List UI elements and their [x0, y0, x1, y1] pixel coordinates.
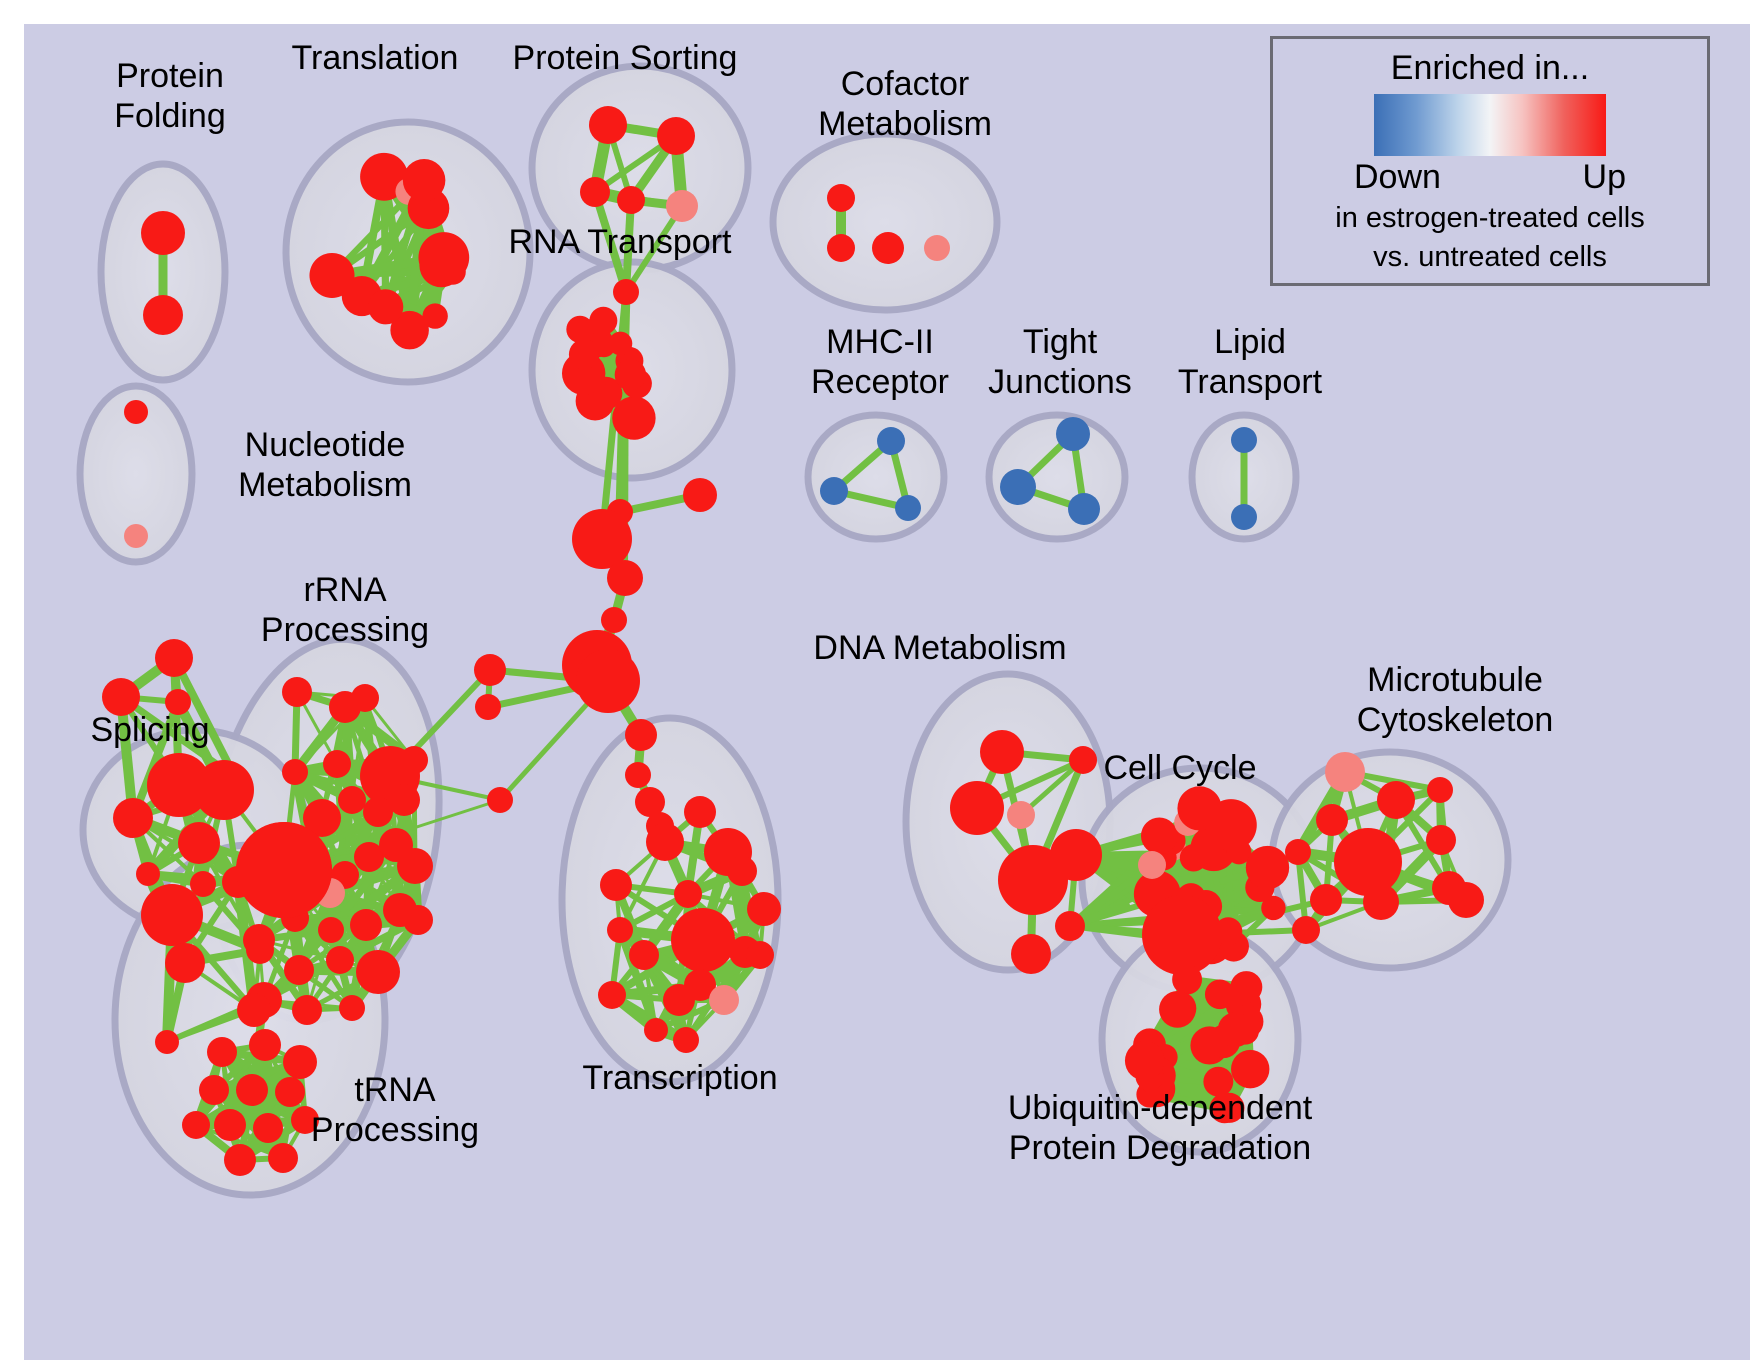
network-node [1056, 417, 1090, 451]
network-node [709, 985, 739, 1015]
network-node [1142, 895, 1222, 975]
network-node [1285, 839, 1311, 865]
network-node [178, 822, 220, 864]
cluster-label-cell-cycle: Cell Cycle [1060, 748, 1300, 788]
network-node [820, 477, 848, 505]
network-node [356, 950, 400, 994]
network-node [403, 905, 433, 935]
network-node [350, 909, 382, 941]
network-node [284, 955, 314, 985]
network-node [1172, 965, 1202, 995]
network-node [1141, 818, 1178, 855]
network-node [182, 1111, 210, 1139]
network-node [282, 677, 312, 707]
network-node [124, 400, 148, 424]
network-figure: Protein Folding Translation Protein Sort… [0, 0, 1750, 1360]
network-node [165, 943, 205, 983]
network-node [237, 993, 271, 1027]
legend-label-up: Up [1583, 158, 1626, 197]
legend-box: Enriched in... Down Up in estrogen-treat… [1270, 36, 1710, 286]
network-node [666, 190, 698, 222]
legend-color-gradient-bar [1374, 94, 1606, 156]
network-node [143, 295, 183, 335]
network-node [1377, 781, 1415, 819]
network-node [727, 856, 757, 886]
network-node [746, 941, 774, 969]
network-node [155, 639, 193, 677]
network-node [368, 289, 403, 324]
network-node [1159, 991, 1196, 1028]
network-node [1230, 971, 1262, 1003]
network-node [625, 719, 657, 751]
legend-sub-line1: in estrogen-treated cells [1335, 201, 1645, 236]
network-node [1363, 884, 1399, 920]
network-node [214, 1109, 246, 1141]
network-node [1050, 829, 1102, 881]
network-node [1180, 844, 1207, 871]
cluster-label-mhc-ii-receptor: MHC-II Receptor [770, 322, 990, 402]
network-node [674, 880, 702, 908]
network-node [607, 917, 633, 943]
network-node [1068, 493, 1100, 525]
network-node [1231, 504, 1257, 530]
network-node [339, 995, 365, 1021]
network-node [747, 892, 781, 926]
network-node [141, 211, 185, 255]
network-node [872, 232, 904, 264]
network-node [207, 1037, 237, 1067]
network-node [827, 184, 855, 212]
cluster-label-ubiquitin: Ubiquitin-dependent Protein Degradation [950, 1088, 1370, 1168]
network-node [569, 339, 600, 370]
network-node [629, 940, 659, 970]
network-node [236, 1074, 268, 1106]
network-node [418, 232, 469, 283]
network-node [827, 234, 855, 262]
network-node [1292, 916, 1320, 944]
network-node [236, 822, 332, 918]
network-node [895, 495, 921, 521]
network-node [124, 524, 148, 548]
network-node [351, 684, 379, 712]
network-node [589, 307, 617, 335]
network-node [615, 359, 646, 390]
network-node [1316, 804, 1348, 836]
network-node [155, 1030, 179, 1054]
network-node [403, 159, 446, 202]
network-node [136, 862, 160, 886]
cluster-label-lipid-transport: Lipid Transport [1150, 322, 1350, 402]
network-node [877, 427, 905, 455]
legend-sub-line2: vs. untreated cells [1373, 240, 1607, 275]
network-node [600, 869, 632, 901]
network-node [141, 884, 203, 946]
network-node [1125, 1041, 1164, 1080]
network-node [292, 995, 322, 1025]
network-node [388, 784, 420, 816]
network-node [282, 759, 308, 785]
network-node [663, 984, 695, 1016]
cluster-label-protein-sorting: Protein Sorting [470, 38, 780, 78]
network-node [572, 509, 632, 569]
cluster-halo [773, 134, 997, 310]
network-node [613, 279, 639, 305]
network-node [318, 917, 344, 943]
network-node [194, 760, 254, 820]
network-node [487, 787, 513, 813]
network-node [1231, 427, 1257, 453]
network-node [1231, 1050, 1269, 1088]
network-node [309, 253, 354, 298]
network-node [671, 908, 735, 972]
network-node [607, 560, 643, 596]
cluster-label-trna-processing: tRNA Processing [270, 1070, 520, 1150]
cluster-halo [808, 415, 944, 539]
network-node [1000, 469, 1036, 505]
network-node [1334, 828, 1402, 896]
network-node [576, 649, 640, 713]
cluster-label-dna-metabolism: DNA Metabolism [790, 628, 1090, 668]
network-node [400, 746, 428, 774]
legend-title: Enriched in... [1391, 49, 1589, 88]
network-node [684, 796, 716, 828]
network-node [1427, 777, 1453, 803]
network-node [422, 303, 447, 328]
network-node [980, 730, 1024, 774]
network-node [1218, 1012, 1253, 1047]
network-node [598, 981, 626, 1009]
network-node [580, 177, 610, 207]
cluster-label-splicing: Splicing [40, 710, 260, 750]
network-node [1310, 884, 1342, 916]
network-node [683, 478, 717, 512]
network-node [1177, 786, 1221, 830]
network-node [326, 946, 354, 974]
network-node [1448, 882, 1484, 918]
cluster-label-rrna-processing: rRNA Processing [220, 570, 470, 650]
legend-endpoints: Down Up [1354, 158, 1626, 197]
network-node [657, 117, 695, 155]
network-node [673, 1027, 699, 1053]
cluster-label-rna-transport: RNA Transport [470, 222, 770, 262]
network-node [199, 1075, 229, 1105]
network-node [924, 235, 950, 261]
cluster-label-transcription: Transcription [530, 1058, 830, 1098]
network-node [644, 1018, 668, 1042]
network-node [601, 607, 627, 633]
cluster-label-nucleotide-metabolism: Nucleotide Metabolism [180, 425, 470, 505]
network-node [1205, 979, 1235, 1009]
cluster-label-tight-junctions: Tight Junctions [960, 322, 1160, 402]
network-node [1138, 851, 1166, 879]
network-node [1007, 801, 1035, 829]
cluster-label-microtubule: Microtubule Cytoskeleton [1290, 660, 1620, 740]
network-node [338, 786, 366, 814]
network-node [1426, 825, 1456, 855]
network-node [474, 654, 506, 686]
network-node [589, 106, 627, 144]
network-node [950, 781, 1004, 835]
network-node [625, 762, 651, 788]
network-node [397, 848, 433, 884]
network-node [1246, 846, 1289, 889]
cluster-label-cofactor-metabolism: Cofactor Metabolism [760, 64, 1050, 144]
network-node [246, 936, 274, 964]
network-node [113, 798, 153, 838]
network-node [617, 186, 645, 214]
network-node [1011, 934, 1051, 974]
network-node [190, 871, 216, 897]
network-node [646, 823, 684, 861]
network-node [249, 1029, 281, 1061]
network-node [323, 750, 351, 778]
network-node [1055, 911, 1085, 941]
network-node [475, 694, 501, 720]
network-node [1325, 752, 1365, 792]
network-node [224, 1144, 256, 1176]
legend-label-down: Down [1354, 158, 1441, 197]
